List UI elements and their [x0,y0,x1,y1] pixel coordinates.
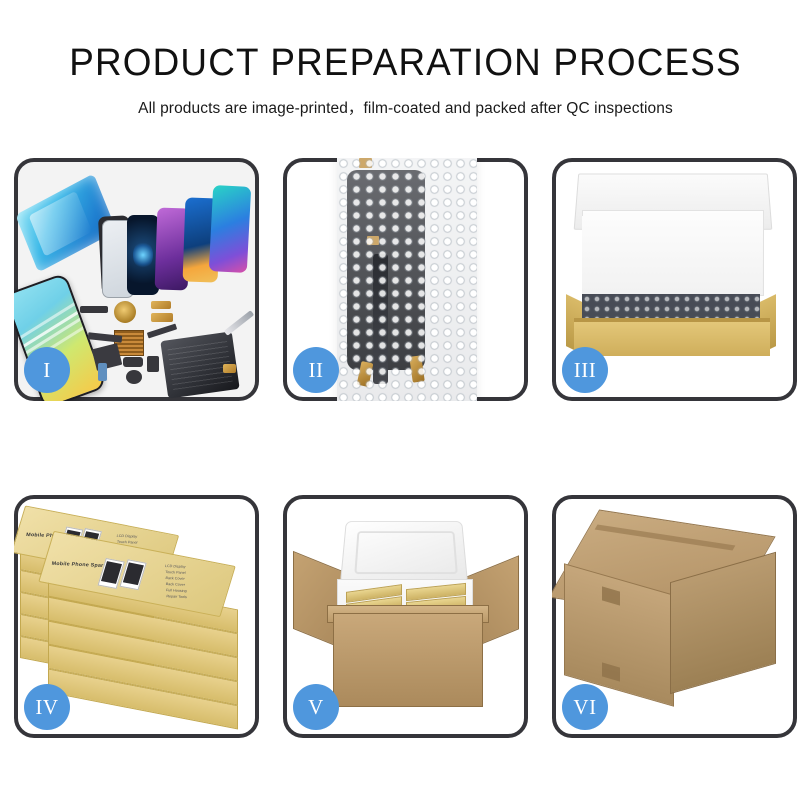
box-spec-line-1: LCD Display [116,534,137,539]
sensor-part-icon [98,363,107,381]
bubble-wrap-bag [337,158,477,401]
step-badge-1: I [24,347,70,393]
page-subtitle: All products are image-printed，film-coat… [0,96,811,118]
box-spec-front-line-2: Touch Panel [165,570,186,575]
step-badge-4: IV [24,684,70,730]
connector-part-icon-2 [151,313,173,322]
flex-cable-icon-3 [147,324,177,339]
phone-device-5 [209,185,251,273]
vibration-motor-icon [114,301,136,323]
flex-cable-icon-2 [92,343,123,371]
process-step-1: I [14,158,259,401]
box-spec-front-line-3: Back Cover [165,576,185,581]
gold-box-front-panel [574,322,770,356]
process-step-2: II [283,158,528,401]
screw-part-icon [223,364,236,373]
small-component-icon [123,357,143,367]
connector-part-icon [151,301,171,309]
page-title: PRODUCT PREPARATION PROCESS [12,44,799,82]
step-badge-2: II [293,347,339,393]
process-step-3: III [552,158,797,401]
box-spec-front-line-6: Repair Tools [166,594,187,599]
process-step-6: VI [552,495,797,738]
product-preparation-infographic: PRODUCT PREPARATION PROCESS All products… [0,0,811,811]
step-badge-5: V [293,684,339,730]
box-spec-front-line-4: Back Cover [165,582,185,587]
tweezer-tool-icon [224,310,254,336]
step-badge-6: VI [562,684,608,730]
box-spec-front-line-1: LCD Display [165,564,186,569]
camera-module-icon [126,370,142,384]
box-spec-front-line-5: Full Housing [166,588,187,593]
battery-part-icon [147,356,159,372]
page-header: PRODUCT PREPARATION PROCESS All products… [0,0,811,118]
process-step-4: Mobile Phone Spare Parts LCD Display Tou… [14,495,259,738]
foam-lid [340,521,468,584]
speaker-part-icon [80,306,108,313]
process-step-5: V [283,495,528,738]
step-badge-3: III [562,347,608,393]
carton-body [333,613,483,707]
bubble-texture-overlay [337,158,477,401]
process-step-grid: I II [14,158,797,738]
foam-insert-sheet [582,216,762,294]
